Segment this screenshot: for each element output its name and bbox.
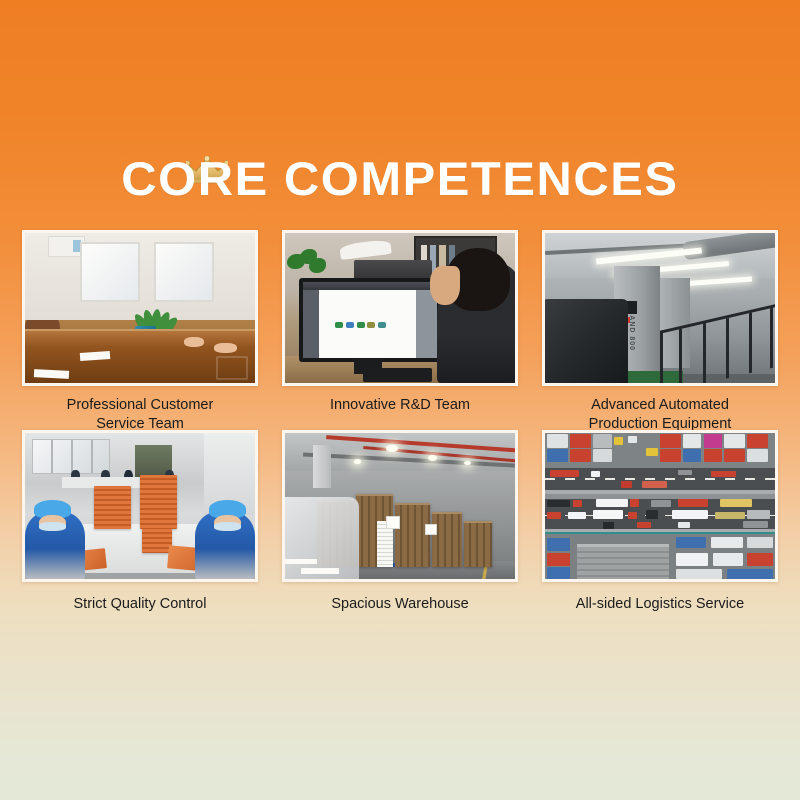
page-title: CORE COMPETENCES <box>121 150 678 208</box>
card-caption: Innovative R&D Team <box>282 393 518 415</box>
caption-line-1: All-sided Logistics Service <box>548 595 772 614</box>
photo-frame[interactable] <box>22 430 258 582</box>
card-caption: Spacious Warehouse <box>282 589 518 614</box>
photo-frame[interactable] <box>282 430 518 582</box>
meeting-room-photo <box>25 233 255 383</box>
caption-line-1: Professional Customer <box>28 396 252 415</box>
caption-line-1: Innovative R&D Team <box>288 396 512 415</box>
warehouse-photo <box>285 433 515 579</box>
card-caption: Advanced Automated Production Equipment <box>542 393 778 434</box>
photo-frame[interactable]: LAND 800 <box>542 230 778 386</box>
card-caption: All-sided Logistics Service <box>542 589 778 614</box>
rnd-workstation-photo <box>285 233 515 383</box>
photo-frame[interactable] <box>22 230 258 386</box>
card-innovative-rnd-team[interactable]: Innovative R&D Team <box>282 230 518 430</box>
caption-line-1: Spacious Warehouse <box>288 595 512 614</box>
card-caption: Professional Customer Service Team <box>22 393 258 434</box>
card-caption: Strict Quality Control <box>22 589 258 614</box>
heading-block: CORE COMPETENCES <box>0 150 800 208</box>
card-advanced-automated-production-equipment[interactable]: LAND 800 Advanced Automated Production E… <box>542 230 778 430</box>
card-all-sided-logistics-service[interactable]: All-sided Logistics Service <box>542 430 778 620</box>
quality-control-photo <box>25 433 255 579</box>
card-professional-customer-service-team[interactable]: Professional Customer Service Team <box>22 230 258 430</box>
competence-card-grid: Professional Customer Service Team <box>22 230 778 620</box>
logistics-aerial-photo <box>545 433 775 579</box>
production-equipment-photo: LAND 800 <box>545 233 775 383</box>
caption-line-1: Advanced Automated <box>548 396 772 415</box>
card-spacious-warehouse[interactable]: Spacious Warehouse <box>282 430 518 620</box>
photo-frame[interactable] <box>282 230 518 386</box>
caption-line-1: Strict Quality Control <box>28 595 252 614</box>
core-competences-banner: CORE COMPETENCES <box>0 0 800 800</box>
photo-frame[interactable] <box>542 430 778 582</box>
card-strict-quality-control[interactable]: Strict Quality Control <box>22 430 258 620</box>
